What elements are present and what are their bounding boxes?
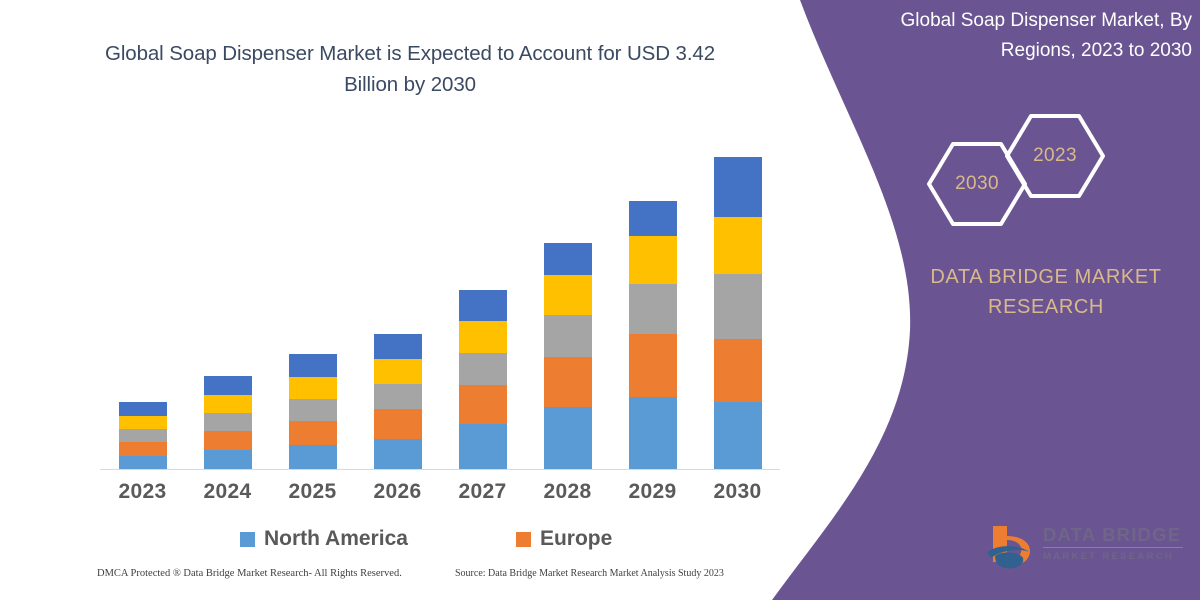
panel-brand-line-1: DATA BRIDGE MARKET bbox=[900, 262, 1192, 292]
chart-plot-area bbox=[100, 140, 780, 470]
stacked-bar bbox=[119, 402, 167, 469]
bar-segment-north-america bbox=[289, 445, 337, 469]
panel-title: Global Soap Dispenser Market, By Regions… bbox=[848, 6, 1192, 66]
x-axis-line bbox=[100, 469, 780, 470]
x-axis-tick-label: 2028 bbox=[525, 480, 610, 504]
bar-segment-south-america bbox=[204, 395, 252, 413]
bar-group bbox=[100, 140, 780, 469]
bar-column[interactable] bbox=[610, 140, 695, 469]
bar-segment-europe bbox=[119, 442, 167, 456]
logo-divider bbox=[1043, 547, 1183, 548]
footer-dmca-text: DMCA Protected ® Data Bridge Market Rese… bbox=[97, 568, 402, 579]
bar-segment-south-america bbox=[289, 377, 337, 399]
legend-label: Europe bbox=[540, 527, 612, 551]
panel-brand-wordmark: DATA BRIDGE MARKET RESEARCH bbox=[900, 262, 1192, 322]
footer: DMCA Protected ® Data Bridge Market Rese… bbox=[0, 568, 800, 596]
bar-segment-north-america bbox=[544, 407, 592, 469]
stacked-bar bbox=[289, 354, 337, 469]
bar-segment-europe bbox=[459, 385, 507, 424]
bar-segment-middle-east-africa bbox=[629, 201, 677, 236]
footer-source-text: Source: Data Bridge Market Research Mark… bbox=[455, 568, 724, 579]
company-logo[interactable]: DATA BRIDGE MARKET RESEARCH bbox=[985, 520, 1185, 576]
bar-column[interactable] bbox=[355, 140, 440, 469]
bar-segment-europe bbox=[544, 357, 592, 407]
x-axis-tick-label: 2030 bbox=[695, 480, 780, 504]
legend-label: North America bbox=[264, 527, 408, 551]
bar-segment-north-america bbox=[119, 456, 167, 469]
bar-segment-asia-pacific bbox=[459, 353, 507, 385]
bar-column[interactable] bbox=[440, 140, 525, 469]
hexagon-badge-2023: 2023 bbox=[1003, 112, 1107, 200]
stacked-bar bbox=[374, 334, 422, 469]
bar-segment-middle-east-africa bbox=[714, 157, 762, 217]
bar-segment-middle-east-africa bbox=[119, 402, 167, 416]
bar-segment-asia-pacific bbox=[119, 429, 167, 442]
bar-segment-south-america bbox=[714, 217, 762, 274]
bar-segment-europe bbox=[204, 431, 252, 450]
bar-column[interactable] bbox=[185, 140, 270, 469]
bar-segment-south-america bbox=[459, 321, 507, 353]
x-axis-tick-label: 2025 bbox=[270, 480, 355, 504]
bar-column[interactable] bbox=[695, 140, 780, 469]
chart-headline: Global Soap Dispenser Market is Expected… bbox=[90, 38, 730, 100]
bar-segment-middle-east-africa bbox=[289, 354, 337, 377]
infographic-root: Global Soap Dispenser Market is Expected… bbox=[0, 0, 1200, 600]
hexagon-label: 2023 bbox=[1003, 112, 1107, 200]
stacked-bar bbox=[714, 157, 762, 469]
bar-segment-asia-pacific bbox=[714, 274, 762, 339]
bar-segment-south-america bbox=[119, 416, 167, 429]
bar-segment-north-america bbox=[459, 424, 507, 469]
bar-segment-europe bbox=[374, 409, 422, 439]
bar-segment-asia-pacific bbox=[374, 384, 422, 409]
legend-swatch-icon bbox=[516, 532, 531, 547]
bar-segment-middle-east-africa bbox=[459, 290, 507, 321]
x-axis-tick-label: 2026 bbox=[355, 480, 440, 504]
bar-segment-asia-pacific bbox=[629, 284, 677, 334]
x-axis-tick-label: 2027 bbox=[440, 480, 525, 504]
legend-item-europe[interactable]: Europe bbox=[516, 527, 612, 551]
bar-segment-south-america bbox=[374, 359, 422, 384]
panel-brand-line-2: RESEARCH bbox=[900, 292, 1192, 322]
legend-swatch-icon bbox=[240, 532, 255, 547]
bar-segment-asia-pacific bbox=[289, 399, 337, 421]
bar-segment-middle-east-africa bbox=[204, 376, 252, 395]
data-bridge-logo-icon bbox=[985, 522, 1037, 572]
bar-segment-asia-pacific bbox=[544, 315, 592, 357]
x-axis-tick-label: 2023 bbox=[100, 480, 185, 504]
stacked-bar bbox=[459, 290, 507, 469]
logo-line-1: DATA BRIDGE bbox=[1043, 524, 1185, 546]
bar-segment-asia-pacific bbox=[204, 413, 252, 431]
hexagon-badges: 2030 2023 bbox=[925, 112, 1115, 228]
logo-wordmark: DATA BRIDGE MARKET RESEARCH bbox=[1043, 524, 1185, 562]
x-axis-labels: 2023 2024 2025 2026 2027 2028 2029 2030 bbox=[100, 480, 780, 504]
stacked-bar bbox=[629, 201, 677, 469]
legend-item-north-america[interactable]: North America bbox=[240, 527, 408, 551]
bar-segment-south-america bbox=[544, 275, 592, 315]
bar-segment-europe bbox=[714, 339, 762, 402]
stacked-bar bbox=[204, 376, 252, 469]
x-axis-tick-label: 2024 bbox=[185, 480, 270, 504]
bar-column[interactable] bbox=[100, 140, 185, 469]
bar-segment-north-america bbox=[629, 397, 677, 469]
bar-segment-europe bbox=[289, 421, 337, 445]
bar-segment-north-america bbox=[374, 439, 422, 469]
bar-segment-europe bbox=[629, 334, 677, 397]
bar-column[interactable] bbox=[270, 140, 355, 469]
bar-segment-north-america bbox=[714, 402, 762, 469]
bar-segment-north-america bbox=[204, 450, 252, 469]
bar-column[interactable] bbox=[525, 140, 610, 469]
bar-segment-middle-east-africa bbox=[544, 243, 592, 275]
bar-segment-middle-east-africa bbox=[374, 334, 422, 359]
logo-line-2: MARKET RESEARCH bbox=[1043, 551, 1185, 562]
stacked-bar bbox=[544, 243, 592, 469]
x-axis-tick-label: 2029 bbox=[610, 480, 695, 504]
chart-legend: North America Europe bbox=[100, 527, 780, 561]
bar-segment-south-america bbox=[629, 236, 677, 284]
